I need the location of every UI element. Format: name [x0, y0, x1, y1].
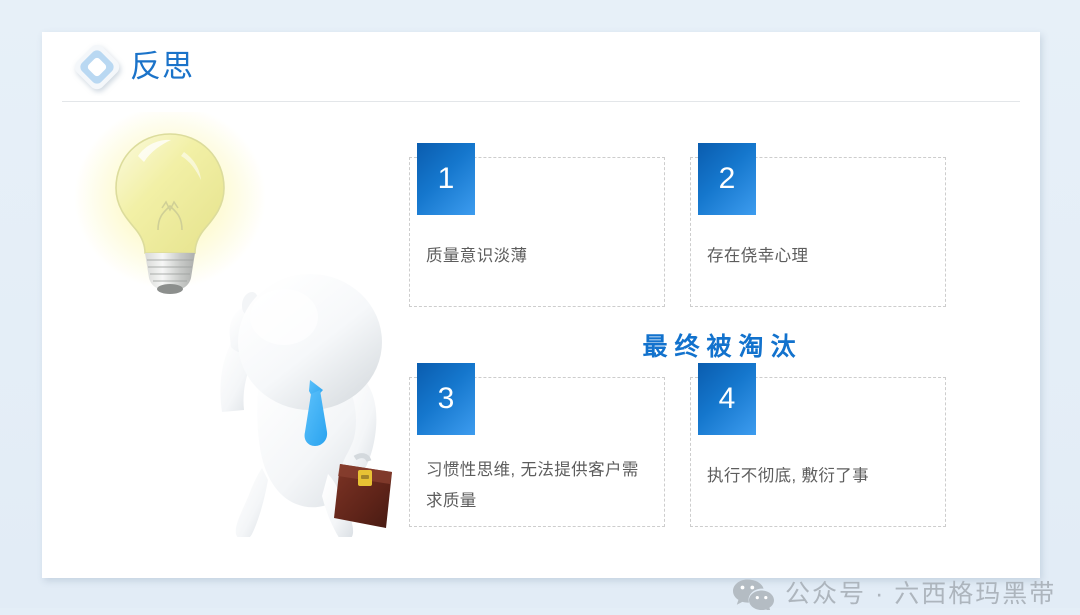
watermark-text: 公众号 · 六西格玛黑带: [785, 577, 1056, 611]
3d-figure-with-lightbulb-illustration: [72, 112, 417, 537]
slide-card: 反思: [42, 32, 1040, 578]
idea-card-4[interactable]: 4 执行不彻底, 敷衍了事: [690, 377, 946, 527]
idea-card-4-number: 4: [698, 363, 756, 435]
idea-card-2[interactable]: 2 存在侥幸心理: [690, 157, 946, 307]
idea-card-2-number: 2: [698, 143, 756, 215]
center-label: 最终被淘汰: [409, 327, 1029, 367]
idea-card-1[interactable]: 1 质量意识淡薄: [409, 157, 665, 307]
idea-card-2-text: 存在侥幸心理: [707, 241, 935, 272]
slide-root: 反思: [0, 0, 1080, 608]
idea-card-3-text: 习惯性思维, 无法提供客户需求质量: [426, 455, 654, 517]
idea-card-3-number: 3: [417, 363, 475, 435]
idea-card-1-number: 1: [417, 143, 475, 215]
idea-card-4-text: 执行不彻底, 敷衍了事: [707, 461, 935, 492]
slide-header: 反思: [42, 32, 1040, 102]
watermark: 公众号 · 六西格玛黑带: [732, 574, 1056, 614]
wechat-icon: [732, 578, 774, 610]
page-title: 反思: [130, 44, 194, 90]
idea-card-1-text: 质量意识淡薄: [426, 241, 654, 272]
header-divider: [62, 101, 1020, 102]
cards-area: 1 质量意识淡薄 2 存在侥幸心理 3 习惯性思维, 无法提供客户需求质量 4 …: [409, 122, 1029, 562]
idea-card-3[interactable]: 3 习惯性思维, 无法提供客户需求质量: [409, 377, 665, 527]
diamond-rhombus-icon: [68, 38, 126, 96]
